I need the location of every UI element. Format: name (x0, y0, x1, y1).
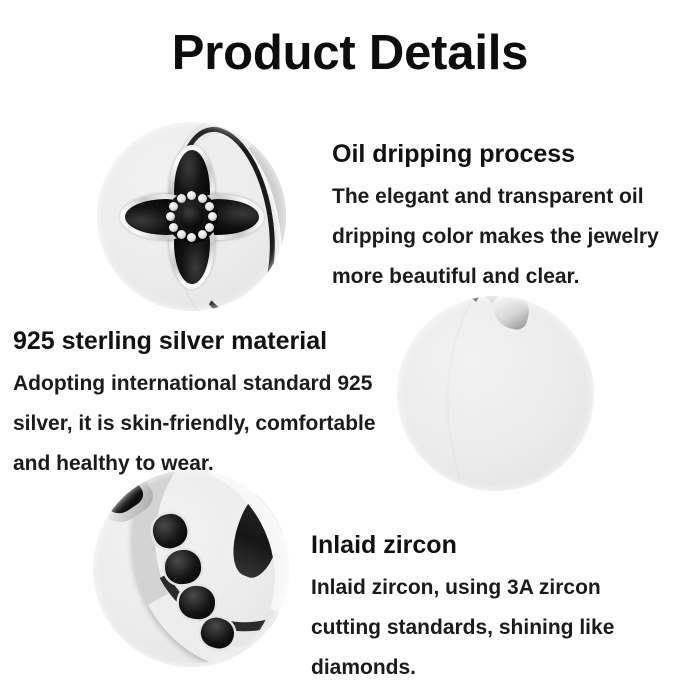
center-gem (180, 205, 204, 229)
feature-body-inlaid-zircon: Inlaid zircon, using 3A zircon cutting s… (311, 568, 651, 688)
product-photo-zircon-setting (93, 470, 289, 667)
product-photo-flower-motif (97, 122, 286, 311)
feature-block-oil-dripping: Oil dripping process The elegant and tra… (332, 139, 682, 297)
feature-body-line: diamonds. (311, 648, 651, 688)
feature-body-oil-dripping: The elegant and transparent oil dripping… (332, 177, 682, 297)
center-bead (169, 223, 178, 232)
feature-body-line: dripping color makes the jewelry (332, 217, 682, 257)
center-bead (169, 202, 178, 211)
center-bead (177, 194, 186, 203)
silver-band-illustration (397, 296, 594, 491)
zircon-setting-illustration (93, 470, 289, 667)
center-bead (205, 202, 214, 211)
feature-body-line: cutting standards, shining like (311, 608, 651, 648)
center-bead (198, 230, 207, 239)
center-bead (166, 212, 175, 221)
center-bead (177, 230, 186, 239)
flower-motif-illustration (97, 122, 286, 311)
feature-body-line: The elegant and transparent oil (332, 177, 682, 217)
feature-body-line: Inlaid zircon, using 3A zircon (311, 568, 651, 608)
feature-heading-oil-dripping: Oil dripping process (332, 139, 682, 169)
center-bead (187, 191, 196, 200)
flower-center-disc (166, 191, 218, 243)
feature-heading-sterling-silver: 925 sterling silver material (13, 326, 398, 356)
feature-heading-inlaid-zircon: Inlaid zircon (311, 530, 651, 560)
center-bead (198, 194, 207, 203)
feature-body-line: silver, it is skin-friendly, comfortable (13, 404, 398, 444)
feature-body-line: and healthy to wear. (13, 444, 398, 484)
feature-body-line: more beautiful and clear. (332, 257, 682, 297)
page-title: Product Details (0, 27, 700, 81)
feature-body-line: Adopting international standard 925 (13, 364, 398, 404)
feature-body-sterling-silver: Adopting international standard 925 silv… (13, 364, 398, 484)
center-bead (208, 212, 217, 221)
feature-block-sterling-silver: 925 sterling silver material Adopting in… (13, 326, 398, 484)
product-photo-silver-band (397, 296, 594, 491)
feature-block-inlaid-zircon: Inlaid zircon Inlaid zircon, using 3A zi… (311, 530, 651, 688)
center-bead (187, 233, 196, 242)
center-bead (205, 223, 214, 232)
